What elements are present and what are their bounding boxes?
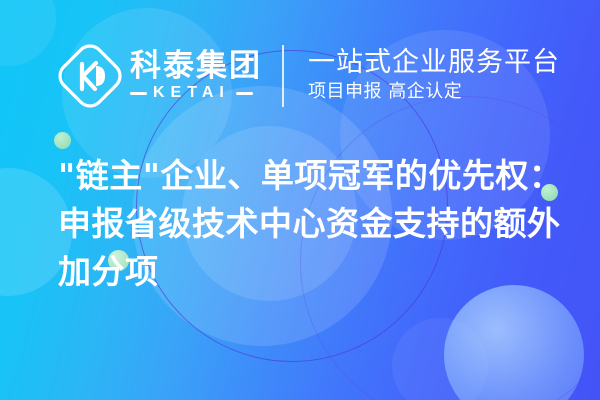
wordmark-rule-left bbox=[130, 92, 147, 95]
decorative-sphere-bottom-right bbox=[444, 285, 584, 400]
accent-dot-upper-left bbox=[54, 132, 71, 149]
banner-header: 科泰集团 KETAI 一站式企业服务平台 项目申报 高企认定 bbox=[58, 44, 560, 108]
wordmark-rule-right bbox=[236, 92, 253, 95]
tagline-block: 一站式企业服务平台 项目申报 高企认定 bbox=[308, 47, 560, 105]
brand-logo[interactable]: 科泰集团 KETAI bbox=[58, 44, 262, 108]
headline-line-1: "链主"企业、单项冠军的优先权： bbox=[58, 152, 558, 200]
header-divider bbox=[282, 45, 284, 107]
headline-line-3: 加分项 bbox=[58, 248, 558, 296]
decorative-circle-lower-right-faint bbox=[392, 318, 488, 400]
brand-wordmark: 科泰集团 KETAI bbox=[130, 51, 262, 102]
tagline-main: 一站式企业服务平台 bbox=[308, 47, 560, 79]
brand-name-en-row: KETAI bbox=[130, 85, 262, 101]
ketai-diamond-monogram-icon bbox=[58, 44, 122, 108]
headline-block: "链主"企业、单项冠军的优先权： 申报省级技术中心资金支持的额外 加分项 bbox=[58, 152, 558, 296]
brand-name-cn: 科泰集团 bbox=[130, 51, 262, 83]
decorative-circle-top-left bbox=[0, 0, 56, 66]
promo-banner: 科泰集团 KETAI 一站式企业服务平台 项目申报 高企认定 "链主"企业、单项… bbox=[0, 0, 600, 400]
brand-name-en: KETAI bbox=[153, 85, 230, 101]
tagline-sub: 项目申报 高企认定 bbox=[308, 79, 560, 105]
headline-line-2: 申报省级技术中心资金支持的额外 bbox=[58, 200, 558, 248]
